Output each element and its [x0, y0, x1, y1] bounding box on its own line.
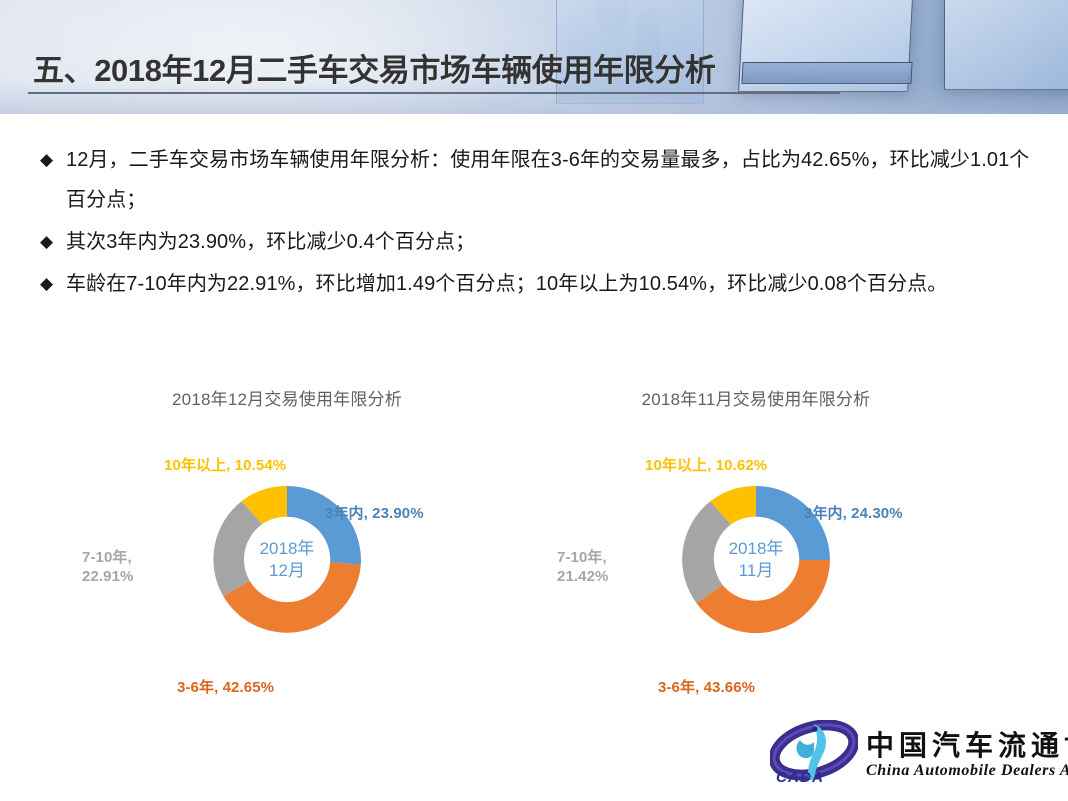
diamond-bullet-icon: ◆: [40, 140, 66, 180]
list-item: ◆ 其次3年内为23.90%，环比减少0.4个百分点；: [40, 222, 1030, 262]
logo-name-en: China Automobile Dealers Association: [866, 762, 1068, 780]
list-item: ◆ 车龄在7-10年内为22.91%，环比增加1.49个百分点；10年以上为10…: [40, 264, 1030, 304]
bullet-text: 其次3年内为23.90%，环比减少0.4个百分点；: [66, 222, 1030, 262]
data-label-7-10年-line2: 22.91%: [82, 567, 133, 586]
bullet-text: 车龄在7-10年内为22.91%，环比增加1.49个百分点；10年以上为10.5…: [66, 264, 1030, 304]
page-title: 五、2018年12月二手车交易市场车辆使用年限分析: [33, 45, 715, 90]
data-label-7-10年-line1: 7-10年,: [557, 548, 608, 567]
cada-logo: CADA 中国汽车流通协会 China Automobile Dealers A…: [770, 720, 1060, 796]
diamond-bullet-icon: ◆: [40, 264, 66, 304]
logo-abbr: CADA: [776, 769, 824, 786]
bullet-list: ◆ 12月，二手车交易市场车辆使用年限分析：使用年限在3-6年的交易量最多，占比…: [40, 140, 1030, 306]
list-item: ◆ 12月，二手车交易市场车辆使用年限分析：使用年限在3-6年的交易量最多，占比…: [40, 140, 1030, 220]
chart-title: 2018年11月交易使用年限分析: [521, 385, 991, 410]
diamond-bullet-icon: ◆: [40, 222, 66, 262]
donut-slice-3年内: [756, 486, 830, 560]
data-label-10年以上: 10年以上, 10.54%: [164, 456, 286, 475]
donut-chart-november: 2018年11月交易使用年限分析 2018年 11月 10年以上, 10.62%…: [521, 385, 991, 715]
slide-canvas: 五、2018年12月二手车交易市场车辆使用年限分析 ◆ 12月，二手车交易市场车…: [0, 0, 1068, 801]
title-underline: [28, 92, 840, 94]
data-label-7-10年-line1: 7-10年,: [82, 548, 133, 567]
data-label-3年内: 3年内, 23.90%: [325, 504, 424, 523]
chart-title: 2018年12月交易使用年限分析: [52, 385, 522, 410]
header-banner: 五、2018年12月二手车交易市场车辆使用年限分析: [0, 0, 1068, 114]
data-label-3-6年: 3-6年, 43.66%: [658, 678, 755, 697]
data-label-7-10年-line2: 21.42%: [557, 567, 608, 586]
data-label-7-10年: 7-10年, 22.91%: [82, 548, 133, 586]
donut-slice-3年内: [287, 486, 361, 565]
data-label-3年内: 3年内, 24.30%: [804, 504, 903, 523]
data-label-7-10年: 7-10年, 21.42%: [557, 548, 608, 586]
data-label-3-6年: 3-6年, 42.65%: [177, 678, 274, 697]
bullet-text: 12月，二手车交易市场车辆使用年限分析：使用年限在3-6年的交易量最多，占比为4…: [66, 140, 1030, 220]
data-label-10年以上: 10年以上, 10.62%: [645, 456, 767, 475]
donut-chart-december: 2018年12月交易使用年限分析 2018年 12月 10年以上, 10.54%…: [52, 385, 522, 715]
logo-name-cn: 中国汽车流通协会: [866, 724, 1068, 764]
donut-slice-3-6年: [696, 560, 830, 633]
